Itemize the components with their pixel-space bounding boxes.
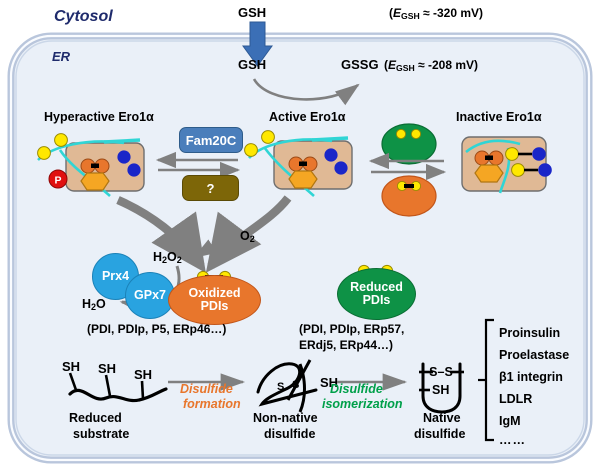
gsh-cytosol-label: GSH — [238, 5, 266, 20]
native-disulfide-label-line2: disulfide — [414, 427, 465, 441]
oxidized-pdis-blob: Oxidized PDIs — [168, 275, 261, 325]
reduced-substrate-label-line2: substrate — [73, 427, 129, 441]
h2o2-label: H2O2 — [153, 250, 182, 265]
reduced-pdis-blob: Reduced PDIs — [337, 268, 416, 320]
client-protein-4: IgM — [499, 414, 521, 428]
disulfide-isomerization-label-line1: Disulfide — [330, 382, 383, 396]
er-label: ER — [52, 49, 70, 64]
client-protein-2: β1 integrin — [499, 370, 563, 384]
nonnative-disulfide-label-line2: disulfide — [264, 427, 315, 441]
svg-text:P: P — [54, 175, 61, 187]
svg-text:S–S: S–S — [429, 365, 453, 379]
reduced-pdis-line1: Reduced — [350, 281, 403, 295]
egsh-cytosol-value: (EGSH ≈ -320 mV) — [389, 6, 483, 21]
thiol-label-3: SH — [134, 367, 152, 382]
reduced-pdi-members-line2: ERdj5, ERp44…) — [299, 338, 393, 352]
client-protein-5: …… — [499, 433, 526, 447]
disulfide-formation-label-line1: Disulfide — [180, 382, 233, 396]
active-ero1a-label: Active Ero1α — [269, 110, 345, 124]
client-protein-3: LDLR — [499, 392, 532, 406]
fam20c-box[interactable]: Fam20C — [179, 127, 243, 153]
svg-text:S: S — [277, 381, 284, 393]
native-disulfide-label-line1: Native — [423, 411, 461, 425]
thiol-label-2: SH — [98, 361, 116, 376]
inactive-ero1a-glyph — [462, 137, 552, 193]
disulfide-isomerization-label-line2: isomerization — [322, 397, 403, 411]
svg-text:SH: SH — [432, 383, 449, 397]
reduced-substrate-label-line1: Reduced — [69, 411, 122, 425]
gsh-er-label: GSH — [238, 57, 266, 72]
cytosol-label: Cytosol — [54, 8, 113, 26]
thiol-label-1: SH — [62, 359, 80, 374]
svg-text:S: S — [292, 379, 299, 391]
unknown-regulator-box[interactable]: ? — [182, 175, 239, 201]
reduced-pdis-line2: PDIs — [363, 294, 391, 308]
oxidized-pdi-members: (PDI, PDIp, P5, ERp46…) — [87, 322, 226, 336]
oxidized-pdis-line2: PDIs — [201, 300, 229, 314]
client-protein-1: Proelastase — [499, 348, 569, 362]
reduced-pdi-members-line1: (PDI, PDIp, ERp57, — [299, 322, 404, 336]
inactive-ero1a-label: Inactive Ero1α — [456, 110, 542, 124]
egsh-er-value: (EGSH ≈ -208 mV) — [384, 58, 478, 73]
gssg-label: GSSG — [341, 57, 379, 72]
diagram-canvas: P — [0, 0, 600, 474]
hyperactive-ero1a-label: Hyperactive Ero1α — [44, 110, 154, 124]
client-protein-0: Proinsulin — [499, 326, 560, 340]
disulfide-formation-label-line2: formation — [183, 397, 241, 411]
h2o-label: H2O — [82, 297, 106, 312]
o2-label: O2 — [240, 229, 255, 244]
oxidized-pdis-line1: Oxidized — [188, 287, 240, 301]
nonnative-disulfide-label-line1: Non-native — [253, 411, 318, 425]
